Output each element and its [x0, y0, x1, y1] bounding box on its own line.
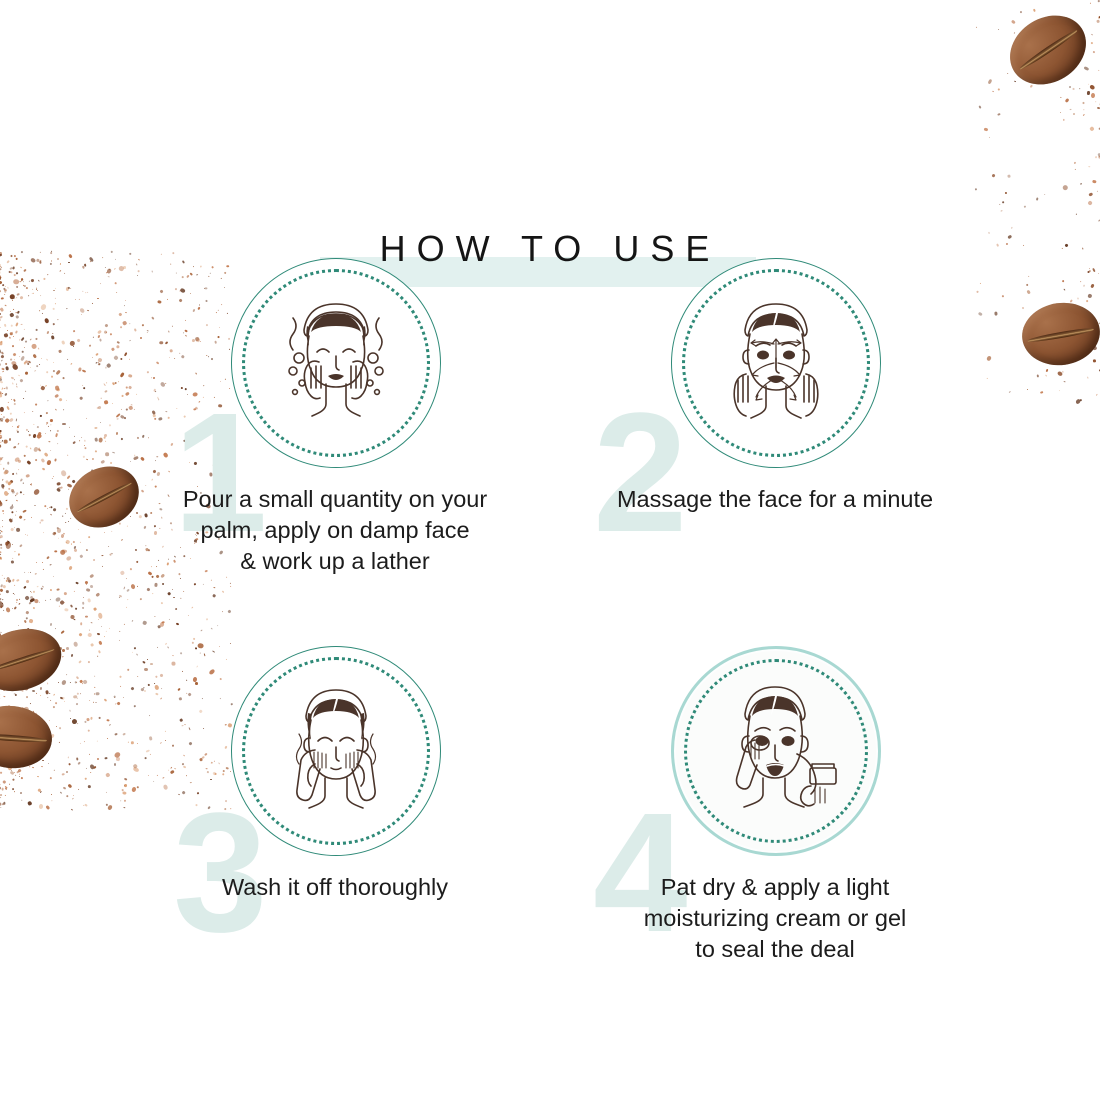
step-caption-4: Pat dry & apply a light moisturizing cre…	[545, 872, 1005, 965]
step-caption-2: Massage the face for a minute	[545, 484, 1005, 515]
step-illustration-circle-3	[231, 646, 441, 856]
how-to-use-infographic: HOW TO USE 1	[0, 0, 1100, 1100]
woman-massaging-face-with-arrows-icon	[671, 258, 881, 468]
woman-applying-cream-icon	[671, 646, 881, 856]
step-illustration-circle-2	[671, 258, 881, 468]
woman-lathering-face-icon	[231, 258, 441, 468]
step-illustration-circle-4	[671, 646, 881, 856]
step-caption-1: Pour a small quantity on your palm, appl…	[105, 484, 565, 577]
step-illustration-circle-1	[231, 258, 441, 468]
step-caption-3: Wash it off thoroughly	[105, 872, 565, 903]
steps-grid: 1	[0, 0, 1100, 1100]
woman-drying-face-with-towel-icon	[231, 646, 441, 856]
